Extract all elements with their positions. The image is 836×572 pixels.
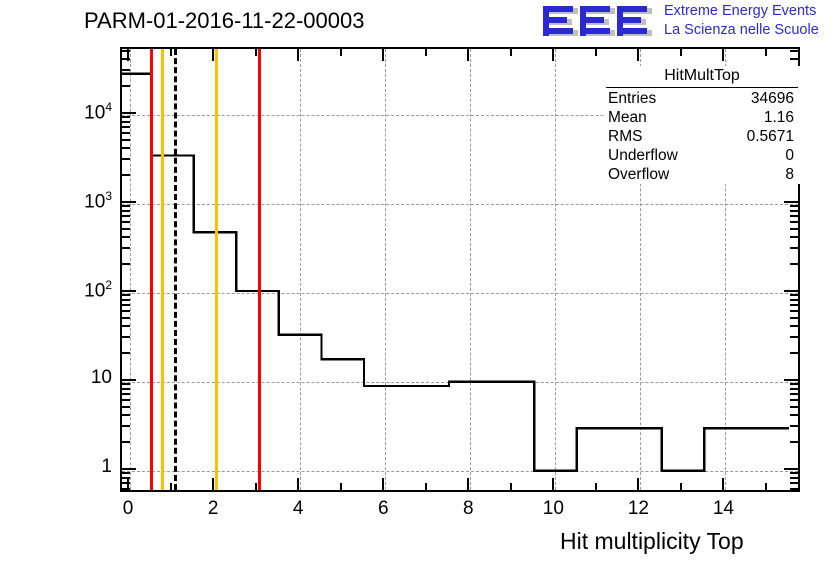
- axis-tick: [121, 126, 130, 128]
- axis-tick: [790, 263, 799, 265]
- axis-tick: [790, 50, 799, 52]
- axis-tick: [121, 406, 130, 408]
- axis-tick: [297, 48, 299, 61]
- axis-tick: [790, 336, 799, 338]
- x-tick-label: 4: [273, 498, 323, 520]
- axis-tick: [790, 325, 799, 327]
- stats-row-key: Entries: [608, 89, 656, 108]
- x-tick-label: 10: [528, 498, 578, 520]
- y-tick-label: 10: [91, 367, 112, 389]
- x-tick-label: 8: [443, 498, 493, 520]
- axis-tick: [784, 379, 799, 381]
- stats-divider: [606, 87, 798, 88]
- axis-tick: [790, 414, 799, 416]
- axis-tick: [121, 477, 130, 479]
- axis-tick: [121, 116, 130, 118]
- axis-tick: [680, 48, 682, 56]
- axis-tick: [467, 478, 469, 491]
- axis-tick: [121, 488, 130, 490]
- y-tick-label: 102: [84, 278, 112, 302]
- stats-row-value: 0: [785, 146, 794, 165]
- axis-tick: [121, 132, 130, 134]
- stats-rows: Entries34696Mean1.16RMS0.5671Underflow0O…: [604, 89, 800, 184]
- axis-tick: [790, 215, 799, 217]
- axis-tick: [340, 483, 342, 491]
- x-tick-label: 12: [613, 498, 663, 520]
- axis-tick: [121, 236, 130, 238]
- axis-tick: [382, 48, 384, 61]
- axis-tick: [121, 69, 130, 71]
- axis-tick: [121, 85, 130, 87]
- axis-tick: [790, 317, 799, 319]
- axis-tick: [121, 221, 130, 223]
- stats-row: Mean1.16: [604, 108, 800, 127]
- root-canvas: PARM-01-2016-11-22-00003: [0, 0, 836, 572]
- stats-row-key: Overflow: [608, 165, 669, 184]
- stats-box: HitMultTop Entries34696Mean1.16RMS0.5671…: [604, 66, 800, 184]
- stats-row-key: Underflow: [608, 146, 678, 165]
- x-tick-label: 6: [358, 498, 408, 520]
- axis-tick: [121, 482, 130, 484]
- axis-tick: [255, 483, 257, 491]
- axis-tick: [790, 393, 799, 395]
- axis-tick: [121, 201, 136, 203]
- y-tick-label: 103: [84, 189, 112, 213]
- axis-tick: [637, 48, 639, 61]
- axis-tick: [121, 294, 130, 296]
- axis-tick: [121, 317, 130, 319]
- axis-tick: [121, 263, 130, 265]
- axis-tick: [637, 478, 639, 491]
- axis-tick: [680, 483, 682, 491]
- axis-tick: [121, 228, 130, 230]
- axis-tick: [784, 468, 799, 470]
- stats-row-key: Mean: [608, 108, 647, 127]
- axis-tick: [552, 48, 554, 61]
- axis-tick: [790, 477, 799, 479]
- axis-tick: [121, 383, 130, 385]
- axis-tick: [595, 48, 597, 56]
- axis-tick: [121, 352, 130, 354]
- stats-row: Underflow0: [604, 146, 800, 165]
- axis-tick: [784, 290, 799, 292]
- axis-tick: [121, 379, 136, 381]
- axis-tick: [121, 158, 130, 160]
- x-axis-title: Hit multiplicity Top: [560, 528, 744, 555]
- axis-tick: [790, 210, 799, 212]
- axis-tick: [790, 299, 799, 301]
- axis-tick: [790, 488, 799, 490]
- stats-title: HitMultTop: [604, 66, 800, 87]
- axis-tick: [510, 48, 512, 56]
- axis-tick: [121, 399, 130, 401]
- stats-row: RMS0.5671: [604, 127, 800, 146]
- axis-tick: [121, 210, 130, 212]
- axis-tick: [790, 399, 799, 401]
- axis-tick: [121, 299, 130, 301]
- axis-tick: [170, 48, 172, 56]
- axis-tick: [722, 48, 724, 61]
- axis-tick: [790, 221, 799, 223]
- axis-tick: [722, 478, 724, 491]
- axis-tick: [121, 290, 136, 292]
- axis-tick: [297, 478, 299, 491]
- y-tick-label: 1: [101, 456, 112, 478]
- axis-tick: [121, 425, 130, 427]
- axis-tick: [121, 50, 130, 52]
- axis-tick: [340, 48, 342, 56]
- axis-tick: [121, 215, 130, 217]
- axis-tick: [121, 388, 130, 390]
- stats-row-value: 0.5671: [747, 127, 794, 146]
- axis-tick: [212, 48, 214, 61]
- axis-tick: [121, 112, 136, 114]
- axis-tick: [790, 482, 799, 484]
- stats-row: Overflow8: [604, 165, 800, 184]
- axis-tick: [425, 483, 427, 491]
- axis-tick: [784, 201, 799, 203]
- axis-tick: [121, 121, 130, 123]
- axis-tick: [467, 48, 469, 61]
- axis-tick: [790, 472, 799, 474]
- axis-tick: [121, 139, 130, 141]
- stats-row-value: 1.16: [764, 108, 794, 127]
- axis-tick: [595, 483, 597, 491]
- axis-tick: [790, 406, 799, 408]
- axis-tick: [790, 304, 799, 306]
- x-tick-label: 2: [188, 498, 238, 520]
- axis-tick: [790, 247, 799, 249]
- axis-tick: [121, 304, 130, 306]
- axis-tick: [212, 478, 214, 491]
- axis-tick: [121, 310, 130, 312]
- axis-tick: [121, 414, 130, 416]
- axis-tick: [121, 147, 130, 149]
- axis-tick: [765, 48, 767, 56]
- x-tick-label: 0: [103, 498, 153, 520]
- axis-tick: [510, 483, 512, 491]
- x-tick-label: 14: [698, 498, 748, 520]
- axis-tick: [790, 205, 799, 207]
- axis-tick: [425, 48, 427, 56]
- axis-tick: [765, 483, 767, 491]
- stats-row-key: RMS: [608, 127, 642, 146]
- axis-tick: [790, 441, 799, 443]
- axis-tick: [121, 393, 130, 395]
- stats-row-value: 8: [785, 165, 794, 184]
- axis-tick: [790, 388, 799, 390]
- axis-tick: [121, 205, 130, 207]
- y-tick-label: 104: [84, 100, 112, 124]
- axis-tick: [121, 247, 130, 249]
- axis-tick: [121, 472, 130, 474]
- axis-tick: [121, 468, 136, 470]
- axis-tick: [790, 383, 799, 385]
- axis-tick: [790, 58, 799, 60]
- axis-tick: [382, 478, 384, 491]
- axis-tick: [121, 58, 130, 60]
- axis-tick: [121, 441, 130, 443]
- axis-tick: [790, 294, 799, 296]
- stats-row-value: 34696: [751, 89, 794, 108]
- axis-tick: [121, 325, 130, 327]
- stats-row: Entries34696: [604, 89, 800, 108]
- axis-tick: [255, 48, 257, 56]
- axis-tick: [790, 236, 799, 238]
- axis-tick: [790, 228, 799, 230]
- axis-tick: [170, 483, 172, 491]
- axis-tick: [790, 425, 799, 427]
- axis-tick: [121, 336, 130, 338]
- axis-tick: [790, 310, 799, 312]
- axis-tick: [790, 352, 799, 354]
- axis-tick: [552, 478, 554, 491]
- axis-tick: [121, 174, 130, 176]
